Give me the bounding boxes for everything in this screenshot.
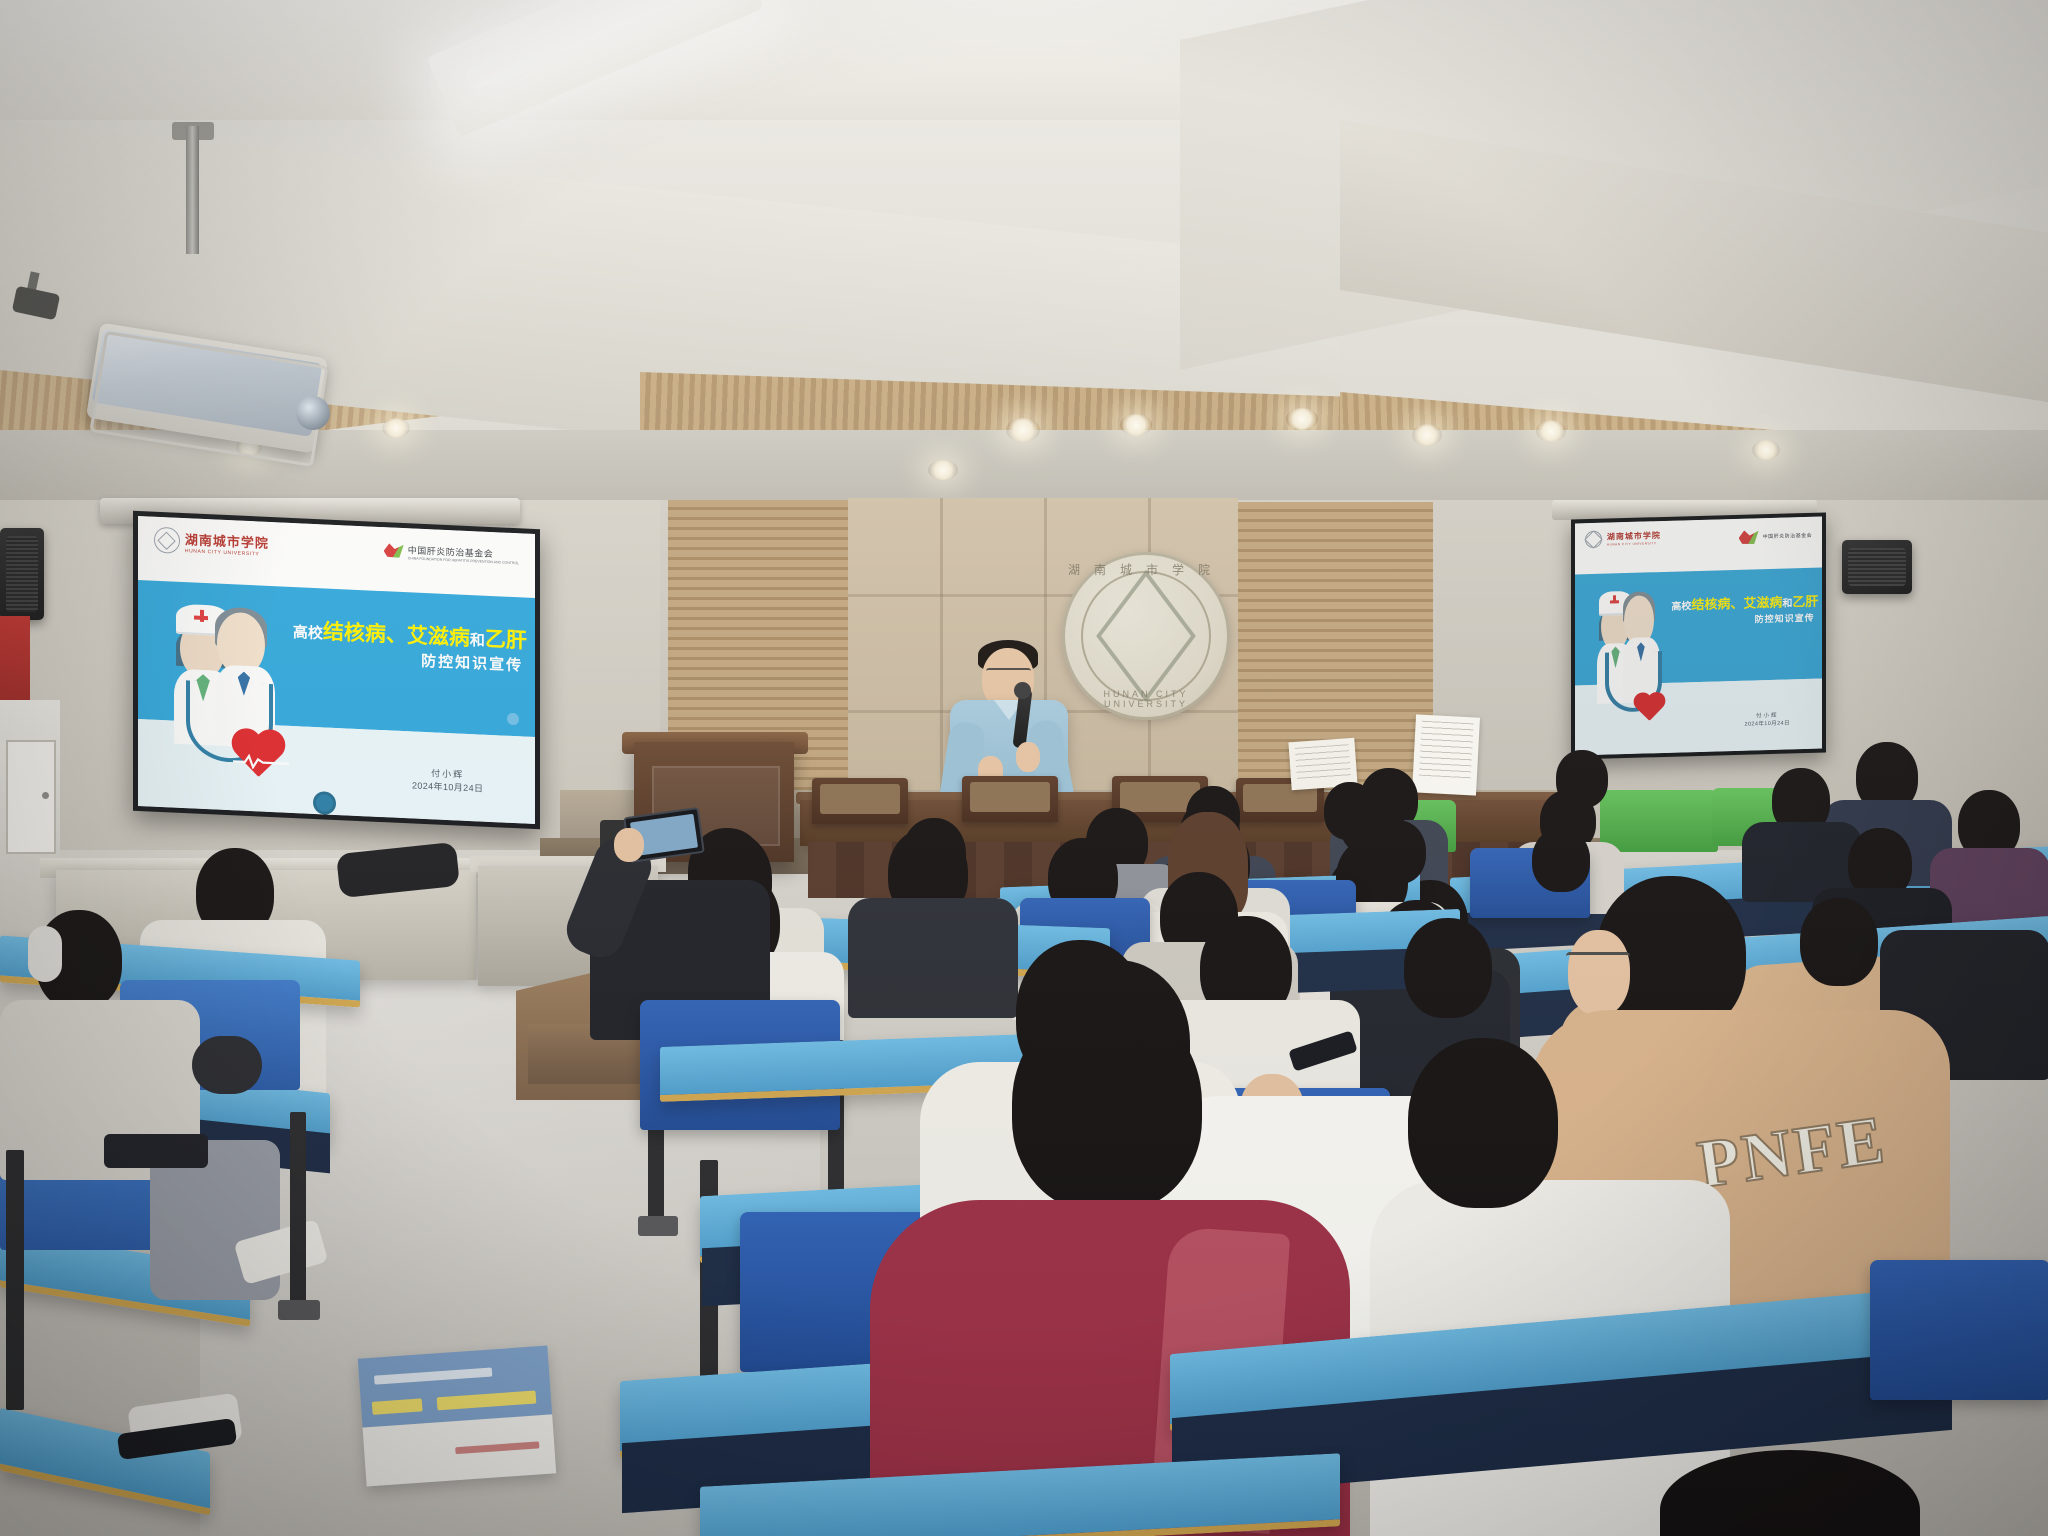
loudspeaker-icon [0,528,44,620]
slide-title-prefix: 高校 [293,624,323,642]
presenter-right-hand [1016,742,1040,772]
secondary-date: 2024年10月24日 [1745,721,1790,730]
audience-arm [192,1036,262,1094]
secondary-university-logo: 湖南城市学院 HUNAN CITY UNIVERSITY [1585,529,1661,548]
lecture-hall-photo: 湖南城市学院 HUNAN CITY UNIVERSITY 湖南城市学院 HUNA… [0,0,2048,1536]
secondary-slide: 湖南城市学院 HUNAN CITY UNIVERSITY 中国肝炎防治基金会 高… [1575,517,1822,756]
secondary-title-main: 结核病、艾滋病 [1691,594,1782,612]
audience-head [1800,898,1878,986]
audience-head [902,818,966,892]
floor-poster [358,1346,556,1487]
audience-head [1556,750,1608,808]
slide-title-conj: 和 [470,632,485,650]
emblem-inner-ring [1081,571,1211,701]
secondary-title-block: 高校结核病、艾滋病和乙肝 防控知识宣传 [1671,593,1814,627]
emblem-english-name: HUNAN CITY UNIVERSITY [1062,689,1230,709]
university-seal-icon [154,527,180,554]
audience-face [1568,930,1630,1016]
audience-body [848,898,1018,1018]
microphone-head-icon [1014,682,1031,699]
audience-head [1368,820,1426,884]
headphones-icon [28,926,62,982]
glasses-icon [1566,952,1630,967]
documents-stack [1412,714,1480,795]
secondary-title-prefix: 高校 [1671,601,1691,613]
secondary-title-tail: 乙肝 [1792,593,1818,609]
hand [614,828,644,862]
university-seal-emblem: 湖南城市学院 HUNAN CITY UNIVERSITY [1062,552,1230,720]
desk-leg [6,1150,24,1410]
downlight-icon [1536,420,1566,442]
desk-leg [290,1112,306,1312]
presenter-glasses-icon [986,668,1031,680]
stethoscope-head-icon [313,791,336,815]
foundation-mark-icon [1739,530,1759,545]
secondary-sponsor-name: 中国肝炎防治基金会 [1763,532,1813,540]
stage-chair [812,778,908,824]
downlight-icon [1286,408,1318,430]
auditorium-chair [1870,1260,2048,1400]
secondary-sponsor-logo: 中国肝炎防治基金会 [1739,528,1813,544]
audience-head-front [1408,1038,1558,1208]
downlight-icon [928,460,958,480]
projector-arm [186,126,199,254]
foundation-mark-icon [384,543,404,558]
audience-head [1532,828,1590,892]
university-seal-icon [1585,531,1602,548]
slide-presenter-block: 付小辉 2024年10月24日 [412,766,483,795]
heart-icon [1632,693,1666,724]
slide-university-logo: 湖南城市学院 HUNAN CITY UNIVERSITY [154,527,269,558]
downlight-icon [1120,414,1152,436]
green-chair [1600,790,1718,852]
audience-head-foreground [1012,1002,1202,1212]
downlight-icon [1412,424,1442,446]
slide-title-tail: 乙肝 [485,627,527,652]
downlight-icon [382,418,410,438]
main-projection-screen[interactable]: 湖南城市学院 HUNAN CITY UNIVERSITY 中国肝炎防治基金会 C… [133,511,540,829]
emblem-cube-icon [1096,570,1196,702]
red-wall-banner [0,616,30,712]
poster-upper [358,1346,552,1428]
stage-chair [962,776,1058,822]
audience-head [1404,918,1492,1018]
tablet-on-desk[interactable] [104,1134,208,1168]
secondary-university-name-en: HUNAN CITY UNIVERSITY [1607,541,1661,547]
desk-foot [278,1300,320,1320]
desk-foot [638,1216,678,1236]
presentation-slide: 湖南城市学院 HUNAN CITY UNIVERSITY 中国肝炎防治基金会 C… [138,516,535,824]
cabinet-knob[interactable] [42,792,49,799]
downlight-icon [1752,440,1780,460]
secondary-presenter-block: 付小辉 2024年10月24日 [1745,713,1790,730]
slide-decor-dot [507,713,519,726]
loudspeaker-icon [1842,540,1912,594]
secondary-projection-screen[interactable]: 湖南城市学院 HUNAN CITY UNIVERSITY 中国肝炎防治基金会 高… [1571,512,1826,759]
audience-head [1324,782,1376,840]
downlight-icon [1006,418,1040,442]
secondary-title-conj: 和 [1782,598,1792,609]
